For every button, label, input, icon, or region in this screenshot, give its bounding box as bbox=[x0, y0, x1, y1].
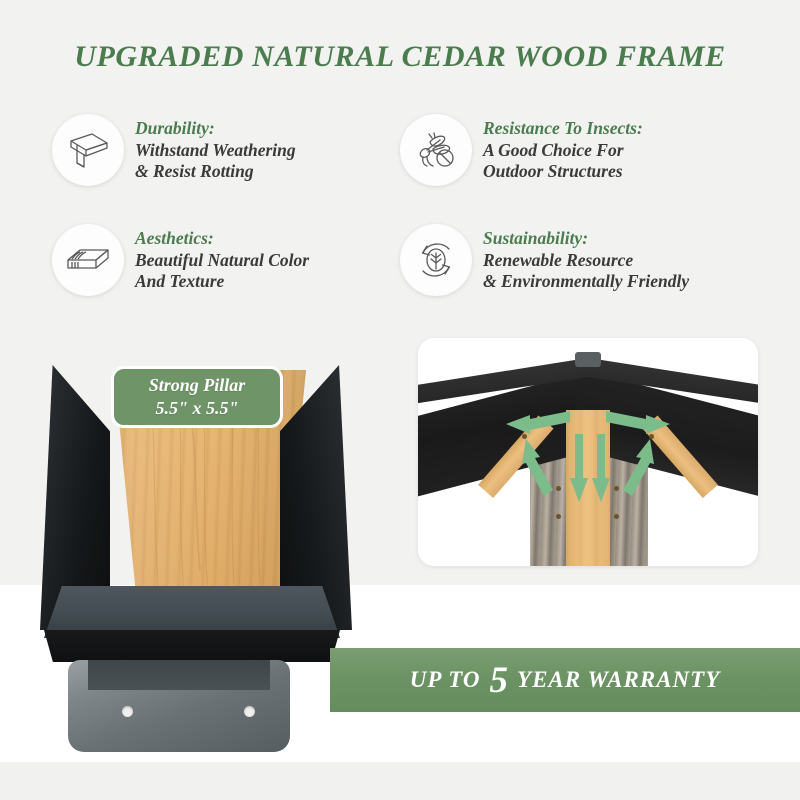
force-arrow-post-right-shaft bbox=[597, 434, 605, 482]
feature-line-2: & Environmentally Friendly bbox=[483, 271, 689, 293]
force-arrow-brace-right bbox=[623, 439, 654, 496]
wood-plank-grain-icon bbox=[52, 224, 124, 296]
feature-line-1: A Good Choice For bbox=[483, 140, 643, 162]
bolt-hole-left bbox=[122, 706, 133, 717]
force-arrow-roof-left bbox=[506, 411, 570, 434]
feature-text: Sustainability: Renewable Resource & Env… bbox=[483, 222, 689, 293]
wood-beam-icon bbox=[52, 114, 124, 186]
infographic-page: UPGRADED NATURAL CEDAR WOOD FRAME Durabi… bbox=[0, 0, 800, 800]
strong-pillar-badge: Strong Pillar 5.5" x 5.5" bbox=[111, 366, 283, 428]
badge-line-1: Strong Pillar bbox=[149, 374, 246, 397]
feature-line-2: & Resist Rotting bbox=[135, 161, 296, 183]
recycle-leaf-icon bbox=[400, 224, 472, 296]
feature-heading: Durability: bbox=[135, 118, 296, 140]
feature-item-aesthetics: Aesthetics: Beautiful Natural Color And … bbox=[52, 222, 400, 332]
roof-illustration bbox=[418, 338, 758, 566]
bolt-hole-right bbox=[244, 706, 255, 717]
force-arrow-roof-right bbox=[606, 411, 670, 434]
badge-line-2: 5.5" x 5.5" bbox=[156, 397, 239, 420]
feature-text: Resistance To Insects: A Good Choice For… bbox=[483, 112, 643, 183]
insect-prohibited-icon bbox=[400, 114, 472, 186]
feature-line-1: Withstand Weathering bbox=[135, 140, 296, 162]
force-arrow-brace-left bbox=[522, 439, 553, 496]
feature-text: Aesthetics: Beautiful Natural Color And … bbox=[135, 222, 309, 293]
bottom-gray-band bbox=[0, 762, 800, 800]
gazebo-roof-corner-photo bbox=[418, 338, 758, 566]
feature-line-2: And Texture bbox=[135, 271, 309, 293]
warranty-prefix: UP TO bbox=[410, 667, 481, 693]
base-plate-recess bbox=[88, 660, 270, 690]
feature-line-2: Outdoor Structures bbox=[483, 161, 643, 183]
feature-list: Durability: Withstand Weathering & Resis… bbox=[52, 112, 764, 332]
feature-item-insect-resistance: Resistance To Insects: A Good Choice For… bbox=[400, 112, 764, 222]
feature-line-1: Renewable Resource bbox=[483, 250, 689, 272]
warranty-years: 5 bbox=[490, 659, 509, 702]
page-title: UPGRADED NATURAL CEDAR WOOD FRAME bbox=[0, 40, 800, 74]
post-cap-front bbox=[44, 630, 340, 662]
feature-heading: Aesthetics: bbox=[135, 228, 309, 250]
feature-item-sustainability: Sustainability: Renewable Resource & Env… bbox=[400, 222, 764, 332]
feature-heading: Sustainability: bbox=[483, 228, 689, 250]
force-arrows-overlay bbox=[418, 338, 758, 566]
warranty-suffix: YEAR WARRANTY bbox=[517, 667, 720, 693]
feature-item-durability: Durability: Withstand Weathering & Resis… bbox=[52, 112, 400, 222]
feature-line-1: Beautiful Natural Color bbox=[135, 250, 309, 272]
feature-text: Durability: Withstand Weathering & Resis… bbox=[135, 112, 296, 183]
force-arrow-post-left-shaft bbox=[575, 434, 583, 482]
feature-heading: Resistance To Insects: bbox=[483, 118, 643, 140]
warranty-banner: UP TO 5 YEAR WARRANTY bbox=[330, 648, 800, 712]
